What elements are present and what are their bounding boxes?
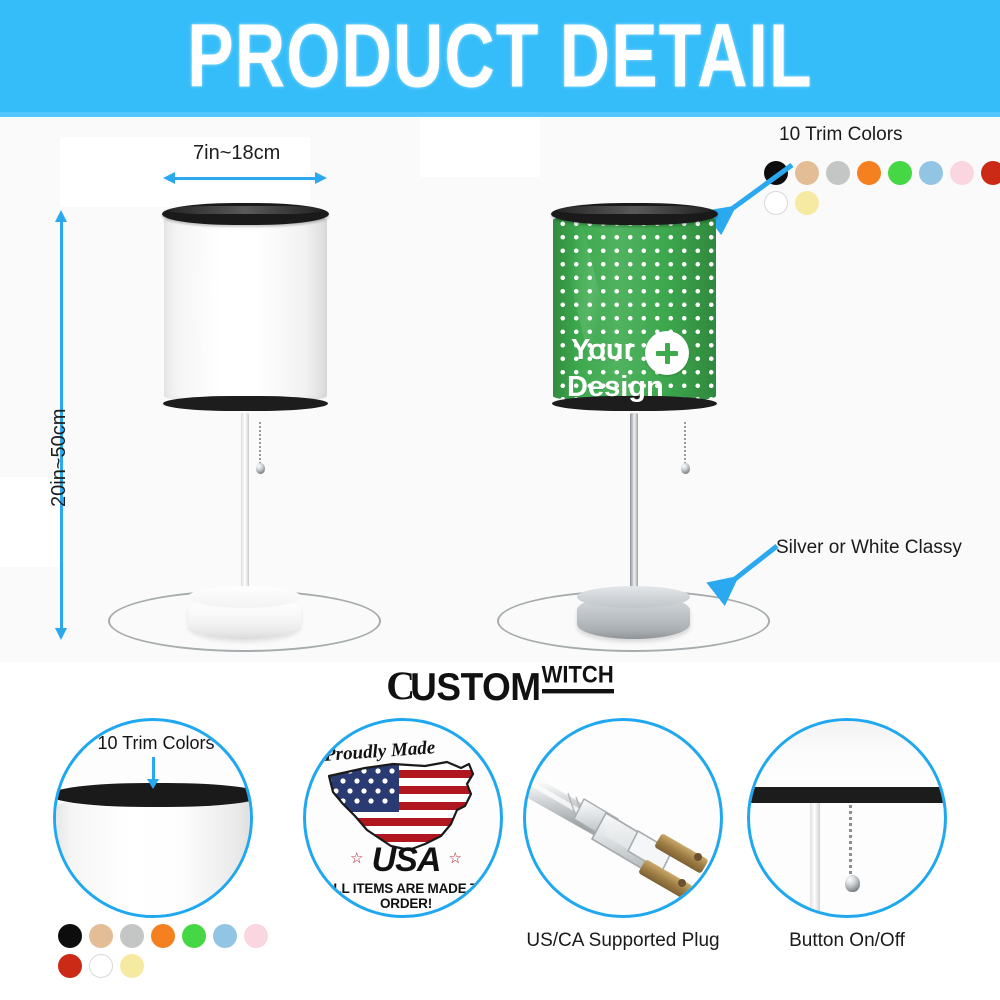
panel-switch-trim (747, 787, 947, 803)
panel-trim-circle: 10 Trim Colors (53, 718, 253, 918)
design-line-2: Design (567, 373, 664, 403)
product-detail-page: PRODUCT DETAIL 10 Trim Colors 7in~18cm (0, 0, 1000, 1000)
chain-line (849, 805, 852, 877)
page-title: PRODUCT DETAIL (187, 5, 812, 108)
base-finish-callout-label: Silver or White Classy (776, 537, 962, 559)
trim-swatch-orange[interactable] (151, 924, 175, 948)
panel-usa-circle: Proudly Made in the (303, 718, 503, 918)
trim-swatch-red[interactable] (981, 161, 1000, 185)
trim-swatch-white[interactable] (89, 954, 113, 978)
lampshade-green: Your Design (553, 203, 716, 408)
width-dimension-arrow (163, 172, 327, 184)
usa-star-right-icon: ☆ (449, 849, 462, 867)
panel-switch-circle (747, 718, 947, 918)
chain-ball (681, 463, 690, 474)
trim-swatch-red[interactable] (58, 954, 82, 978)
panel-trim-label: 10 Trim Colors (56, 733, 253, 754)
product-stage: 10 Trim Colors 7in~18cm 20in~50cm (0, 117, 1000, 662)
lampshade-surface (164, 213, 327, 403)
panel-shade-body (53, 793, 253, 918)
base-top-silver (577, 586, 690, 608)
trim-swatch-black[interactable] (58, 924, 82, 948)
trim-swatch-orange[interactable] (857, 161, 881, 185)
logo-text-witch: WITCH (542, 663, 614, 694)
width-dimension-label: 7in~18cm (193, 142, 280, 165)
design-line-1: Your (571, 336, 635, 366)
trim-swatch-yellow[interactable] (120, 954, 144, 978)
trim-top-green (551, 203, 718, 225)
panel-switch-shade (747, 718, 947, 791)
trim-swatch-green[interactable] (182, 924, 206, 948)
feature-panels: 10 Trim Colors Proudly Made in the (0, 712, 1000, 1000)
chain-line (684, 422, 686, 464)
base-top-white (188, 586, 301, 608)
trim-top-white (162, 203, 329, 225)
height-dimension-label: 20in~50cm (48, 409, 71, 507)
panel-plug: US/CA Supported Plug (498, 712, 748, 1000)
chain-line (259, 422, 261, 464)
lampshade-white (164, 203, 327, 408)
trim-swatch-gray[interactable] (120, 924, 144, 948)
trim-color-swatches-bottom[interactable] (58, 924, 288, 978)
usa-star-left-icon: ☆ (350, 849, 363, 867)
panel-switch-rod (810, 803, 820, 918)
trim-bottom-white (163, 396, 328, 411)
panel-trim-arrow-icon (152, 757, 155, 779)
usa-subtext: ALL ITEMS ARE MADE TO ORDER! (306, 881, 503, 911)
logo-text-custom: USTOM (410, 666, 540, 705)
chain-ball (256, 463, 265, 474)
header-banner: PRODUCT DETAIL (0, 0, 1000, 112)
trim-swatch-gray[interactable] (826, 161, 850, 185)
trim-swatch-pink[interactable] (244, 924, 268, 948)
logo-mark-c: C (386, 666, 413, 706)
panel-plug-circle (523, 718, 723, 918)
plus-icon[interactable] (645, 331, 689, 375)
bg-plate (420, 117, 540, 177)
panel-plug-caption: US/CA Supported Plug (498, 930, 748, 952)
lamp-base-white (188, 595, 301, 639)
panel-made-in-usa: Proudly Made in the (278, 712, 528, 1000)
panel-switch-caption: Button On/Off (722, 930, 972, 952)
trim-swatch-light-blue[interactable] (213, 924, 237, 948)
trim-swatch-tan[interactable] (89, 924, 113, 948)
trim-swatch-pink[interactable] (950, 161, 974, 185)
trim-swatch-light-blue[interactable] (919, 161, 943, 185)
brand-logo: C USTOM WITCH (0, 662, 1000, 710)
usa-big-text: USA (306, 841, 503, 880)
trim-colors-callout-label: 10 Trim Colors (779, 124, 903, 146)
chain-ball (845, 875, 860, 892)
trim-swatch-green[interactable] (888, 161, 912, 185)
panel-switch: Button On/Off (722, 712, 972, 1000)
panel-trim-colors: 10 Trim Colors (28, 712, 278, 1000)
power-plug-icon (526, 721, 723, 918)
base-pointer-arrow (705, 542, 785, 602)
lamp-base-silver (577, 595, 690, 639)
